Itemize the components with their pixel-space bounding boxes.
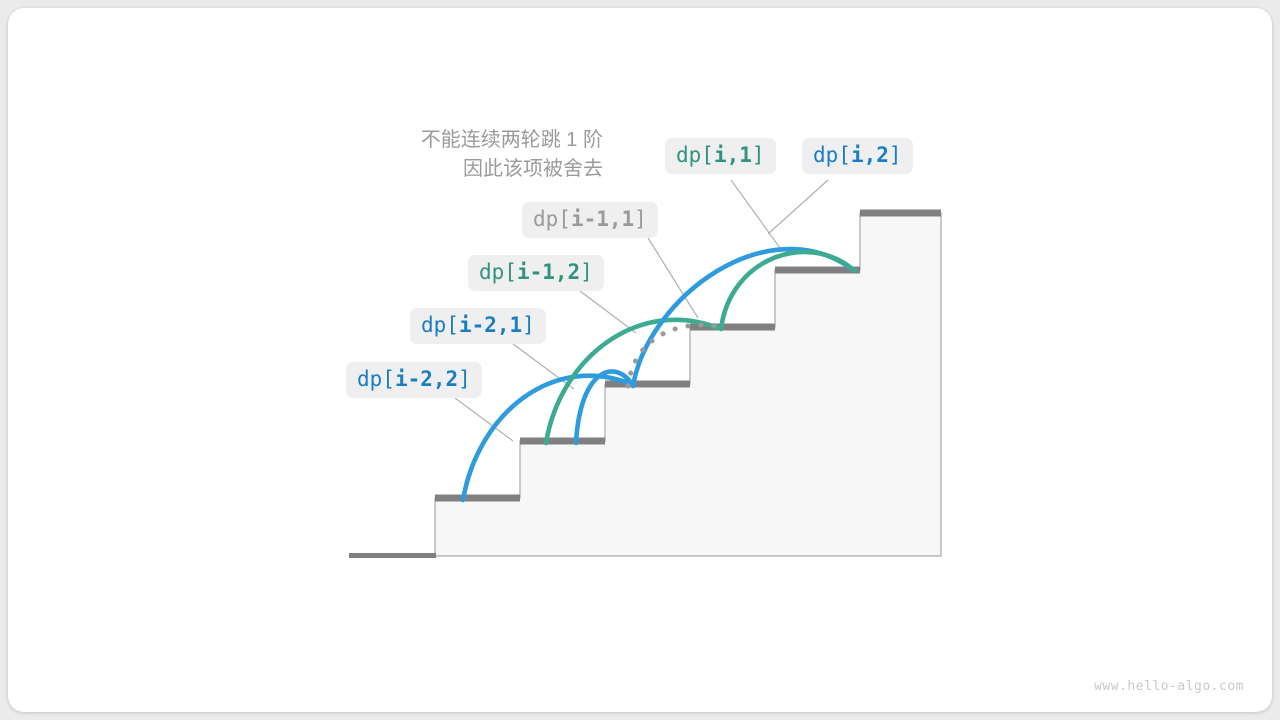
leader-dp-i-2-1: [513, 344, 574, 389]
label-dp-i-1-prefix: dp[: [676, 143, 714, 167]
label-dp-i-2-prefix: dp[: [813, 143, 851, 167]
label-dp-i-2-2-prefix: dp[: [357, 367, 395, 391]
label-dp-i-2: dp[i,2]: [802, 138, 913, 174]
note-text: 不能连续两轮跳 1 阶 因此该项被舍去: [338, 126, 603, 184]
leader-dp-i-1: [731, 180, 780, 248]
leader-dp-i-1-2: [580, 291, 636, 333]
label-dp-i-1-1-index: i-1,1: [571, 207, 634, 231]
label-dp-i-2-2-index: i-2,2: [395, 367, 458, 391]
label-dp-i-2-1-suffix: ]: [522, 313, 535, 337]
label-dp-i-1-suffix: ]: [752, 143, 765, 167]
label-dp-i-1-1: dp[i-1,1]: [522, 202, 658, 238]
leader-dp-i-2: [768, 180, 828, 234]
label-dp-i-1-2-prefix: dp[: [479, 260, 517, 284]
label-dp-i-1-2-index: i-1,2: [517, 260, 580, 284]
label-dp-i-2-2: dp[i-2,2]: [346, 362, 482, 398]
note-line-1: 不能连续两轮跳 1 阶: [338, 126, 603, 155]
label-dp-i-2-1: dp[i-2,1]: [410, 308, 546, 344]
label-dp-i-1-index: i,1: [714, 143, 752, 167]
label-dp-i-2-1-index: i-2,1: [459, 313, 522, 337]
watermark: www.hello-algo.com: [1094, 679, 1244, 694]
label-dp-i-2-2-suffix: ]: [458, 367, 471, 391]
page-root: 不能连续两轮跳 1 阶 因此该项被舍去 dp[i-2,2] dp[i-2,1] …: [0, 0, 1280, 720]
label-dp-i-1-1-suffix: ]: [634, 207, 647, 231]
figure-card: 不能连续两轮跳 1 阶 因此该项被舍去 dp[i-2,2] dp[i-2,1] …: [8, 8, 1272, 712]
stairs-dp-diagram: [8, 8, 1272, 712]
label-dp-i-1-1-prefix: dp[: [533, 207, 571, 231]
leader-dp-i-2-2: [455, 398, 513, 441]
label-dp-i-2-index: i,2: [851, 143, 889, 167]
label-dp-i-1-2: dp[i-1,2]: [468, 255, 604, 291]
label-dp-i-2-suffix: ]: [889, 143, 902, 167]
label-dp-i-1-2-suffix: ]: [580, 260, 593, 284]
label-dp-i-1: dp[i,1]: [665, 138, 776, 174]
note-line-2: 因此该项被舍去: [338, 155, 603, 184]
label-dp-i-2-1-prefix: dp[: [421, 313, 459, 337]
